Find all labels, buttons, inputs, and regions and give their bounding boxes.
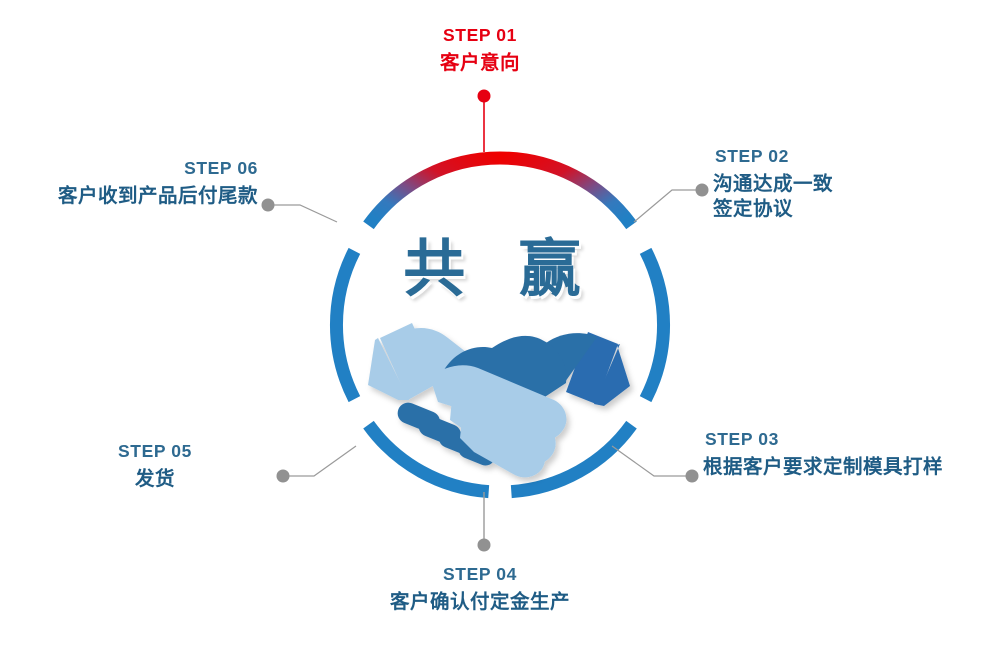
step-text-02-line-2: 签定协议 <box>713 197 973 222</box>
step-text-05-line-1: 发货 <box>60 467 250 492</box>
step-text-02-line-1: 沟通达成一致 <box>713 172 973 197</box>
connector-dot-step-01 <box>478 90 491 103</box>
connector-dot-step-06 <box>262 199 275 212</box>
step-number-02: STEP 02 <box>715 145 973 167</box>
step-number-05: STEP 05 <box>60 440 250 462</box>
ring-arc-1 <box>500 158 632 225</box>
connector-dot-step-05 <box>277 470 290 483</box>
step-label-06[interactable]: STEP 06 客户收到产品后付尾款 <box>20 157 258 209</box>
connector-dot-step-02 <box>696 184 709 197</box>
connector-step-05 <box>288 446 356 476</box>
process-circle-diagram <box>0 0 1000 650</box>
step-label-02[interactable]: STEP 02 沟通达成一致 签定协议 <box>713 145 973 222</box>
connector-step-04 <box>478 492 491 552</box>
step-label-04[interactable]: STEP 04 客户确认付定金生产 <box>370 563 590 615</box>
step-number-01: STEP 01 <box>370 24 590 46</box>
ring-arc-6 <box>369 158 501 225</box>
step-label-05[interactable]: STEP 05 发货 <box>60 440 250 492</box>
step-label-01[interactable]: STEP 01 客户意向 <box>370 24 590 76</box>
step-text-04-line-1: 客户确认付定金生产 <box>370 590 590 615</box>
step-text-06-line-1: 客户收到产品后付尾款 <box>20 184 258 209</box>
connector-dot-step-03 <box>686 470 699 483</box>
step-number-03: STEP 03 <box>705 428 993 450</box>
step-number-06: STEP 06 <box>20 157 258 179</box>
connector-dot-step-04 <box>478 539 491 552</box>
step-text-01-line-1: 客户意向 <box>370 51 590 76</box>
step-text-03-line-1: 根据客户要求定制模具打样 <box>703 455 993 480</box>
center-word: 共 赢 <box>0 218 1000 308</box>
step-number-04: STEP 04 <box>370 563 590 585</box>
connector-step-01 <box>478 90 491 153</box>
handshake-icon <box>368 323 630 477</box>
connector-step-03 <box>612 446 692 476</box>
infographic-canvas: 共 赢 STEP 01 客户意向 STEP 02 沟通达成一致 签定协议 STE… <box>0 0 1000 650</box>
step-label-03[interactable]: STEP 03 根据客户要求定制模具打样 <box>703 428 993 480</box>
